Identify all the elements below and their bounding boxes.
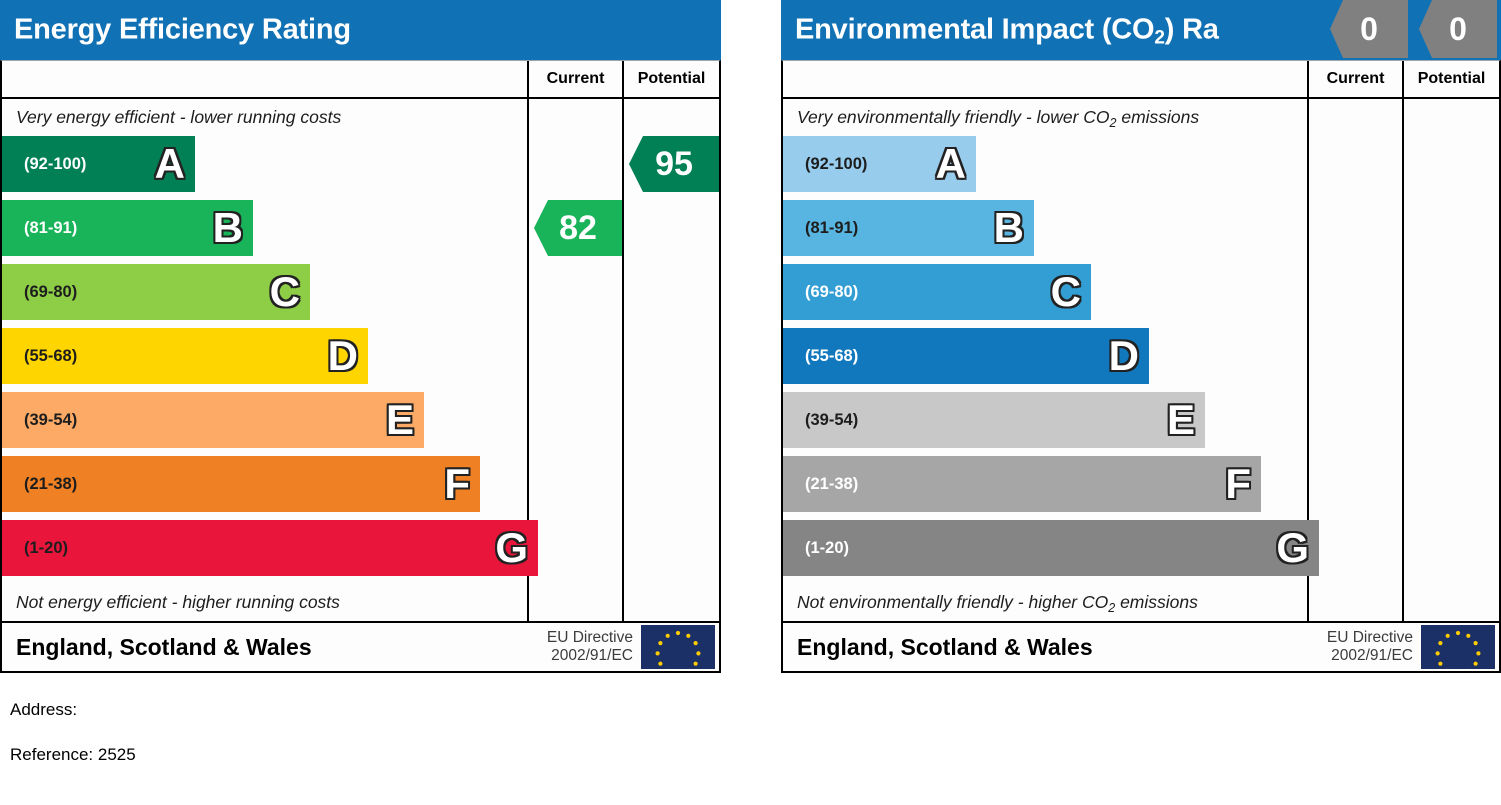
band-range-c: (69-80) (24, 283, 77, 302)
band-letter-f: F (1225, 463, 1251, 505)
band-row-g: (1-20) G (2, 520, 538, 576)
environmental-caption-bottom-subscript: 2 (1108, 601, 1115, 615)
band-row-b: (81-91) B (783, 200, 1034, 256)
band-row-f: (21-38) F (2, 456, 480, 512)
environmental-impact-chart: Environmental Impact (CO2) Ra 0 0 Curren… (781, 0, 1501, 673)
band-range-g: (1-20) (24, 539, 68, 558)
band-row-c: (69-80) C (2, 264, 310, 320)
band-range-f: (21-38) (24, 475, 77, 494)
environmental-directive-line2: 2002/91/EC (1327, 647, 1413, 665)
band-range-a: (92-100) (24, 155, 86, 174)
address-label: Address: (10, 700, 136, 720)
environmental-potential-column (1404, 99, 1499, 621)
environmental-chart-column-header-row: Current Potential (783, 61, 1499, 99)
band-row-e: (39-54) E (2, 392, 424, 448)
eu-stars-icon (1421, 625, 1495, 669)
energy-footer-directive: EU Directive 2002/91/EC (547, 629, 641, 666)
band-range-f: (21-38) (805, 475, 858, 494)
energy-footer-region: England, Scotland & Wales (2, 634, 547, 661)
band-range-d: (55-68) (24, 347, 77, 366)
energy-bands-column: Very energy efficient - lower running co… (2, 99, 529, 621)
energy-potential-rating-marker: 95 (629, 136, 719, 192)
band-range-b: (81-91) (24, 219, 77, 238)
environmental-potential-rating-value: 0 (1449, 11, 1467, 48)
band-range-d: (55-68) (805, 347, 858, 366)
environmental-caption-bottom: Not environmentally friendly - higher CO… (783, 584, 1307, 621)
energy-directive-line1: EU Directive (547, 629, 633, 647)
band-range-c: (69-80) (805, 283, 858, 302)
eu-flag-icon (1421, 625, 1495, 669)
band-letter-b: B (994, 207, 1024, 249)
environmental-current-rating-value: 0 (1360, 11, 1378, 48)
eu-flag-icon (641, 625, 715, 669)
energy-chart-grid: Current Potential Very energy efficient … (0, 60, 721, 673)
energy-chart-column-header-row: Current Potential (2, 61, 719, 99)
energy-potential-rating-value: 95 (655, 145, 693, 184)
band-letter-e: E (1167, 399, 1195, 441)
band-range-b: (81-91) (805, 219, 858, 238)
environmental-chart-title-main: Environmental Impact (CO (795, 14, 1154, 46)
energy-chart-footer: England, Scotland & Wales EU Directive 2… (2, 621, 719, 671)
band-row-a: (92-100) A (783, 136, 976, 192)
column-header-current: Current (1309, 61, 1404, 97)
band-range-a: (92-100) (805, 155, 867, 174)
property-details: Address: Reference: 2525 (10, 700, 136, 790)
band-letter-a: A (936, 143, 966, 185)
band-range-e: (39-54) (24, 411, 77, 430)
band-letter-d: D (1109, 335, 1139, 377)
energy-current-rating-value: 82 (559, 209, 597, 248)
environmental-footer-directive: EU Directive 2002/91/EC (1327, 629, 1421, 666)
band-letter-e: E (386, 399, 414, 441)
band-letter-f: F (444, 463, 470, 505)
environmental-chart-title: Environmental Impact (CO2) Ra (795, 14, 1219, 47)
band-row-e: (39-54) E (783, 392, 1205, 448)
environmental-current-column (1309, 99, 1404, 621)
band-letter-c: C (1051, 271, 1081, 313)
band-range-g: (1-20) (805, 539, 849, 558)
environmental-current-rating-marker: 0 (1330, 0, 1408, 58)
band-letter-g: G (1276, 527, 1309, 569)
energy-chart-title: Energy Efficiency Rating (14, 14, 351, 47)
energy-chart-titlebar: Energy Efficiency Rating (0, 0, 721, 60)
environmental-caption-top-b: emissions (1116, 107, 1199, 127)
energy-caption-top: Very energy efficient - lower running co… (2, 99, 527, 136)
energy-current-rating-marker: 82 (534, 200, 622, 256)
band-letter-d: D (328, 335, 358, 377)
environmental-chart-title-subscript: 2 (1154, 28, 1164, 49)
band-row-b: (81-91) B (2, 200, 253, 256)
band-row-d: (55-68) D (783, 328, 1149, 384)
energy-caption-bottom: Not energy efficient - higher running co… (2, 584, 527, 621)
band-letter-b: B (213, 207, 243, 249)
environmental-chart-title-tail: ) Ra (1165, 14, 1219, 46)
band-letter-a: A (155, 143, 185, 185)
environmental-caption-top-a: Very environmentally friendly - lower CO (797, 107, 1110, 127)
band-letter-c: C (270, 271, 300, 313)
environmental-footer-region: England, Scotland & Wales (783, 634, 1327, 661)
band-row-d: (55-68) D (2, 328, 368, 384)
column-header-current: Current (529, 61, 624, 97)
header-spacer (783, 61, 1309, 97)
environmental-potential-rating-marker: 0 (1419, 0, 1497, 58)
band-range-e: (39-54) (805, 411, 858, 430)
band-row-a: (92-100) A (2, 136, 195, 192)
environmental-chart-titlebar: Environmental Impact (CO2) Ra 0 0 (781, 0, 1501, 60)
energy-band-list: (92-100) A (81-91) B (69-80) C (55-68) (2, 136, 527, 584)
column-header-potential: Potential (1404, 61, 1499, 97)
band-row-g: (1-20) G (783, 520, 1319, 576)
environmental-caption-bottom-b: emissions (1115, 592, 1198, 612)
environmental-caption-top: Very environmentally friendly - lower CO… (783, 99, 1307, 136)
band-row-f: (21-38) F (783, 456, 1261, 512)
energy-efficiency-chart: Energy Efficiency Rating Current Potenti… (0, 0, 721, 673)
environmental-chart-footer: England, Scotland & Wales EU Directive 2… (783, 621, 1499, 671)
energy-directive-line2: 2002/91/EC (547, 647, 633, 665)
epc-graphs-page: Energy Efficiency Rating Current Potenti… (0, 0, 1501, 805)
eu-stars-icon (641, 625, 715, 669)
environmental-band-list: (92-100) A (81-91) B (69-80) C (55-68) (783, 136, 1307, 584)
header-spacer (2, 61, 529, 97)
environmental-chart-body: Very environmentally friendly - lower CO… (783, 99, 1499, 621)
environmental-bands-column: Very environmentally friendly - lower CO… (783, 99, 1309, 621)
environmental-caption-bottom-a: Not environmentally friendly - higher CO (797, 592, 1108, 612)
band-letter-g: G (495, 527, 528, 569)
energy-current-column: 82 (529, 99, 624, 621)
environmental-caption-top-subscript: 2 (1110, 116, 1117, 130)
band-row-c: (69-80) C (783, 264, 1091, 320)
energy-chart-body: Very energy efficient - lower running co… (2, 99, 719, 621)
reference-label: Reference: 2525 (10, 745, 136, 765)
environmental-chart-grid: Current Potential Very environmentally f… (781, 60, 1501, 673)
column-header-potential: Potential (624, 61, 719, 97)
energy-potential-column: 95 (624, 99, 719, 621)
environmental-directive-line1: EU Directive (1327, 629, 1413, 647)
